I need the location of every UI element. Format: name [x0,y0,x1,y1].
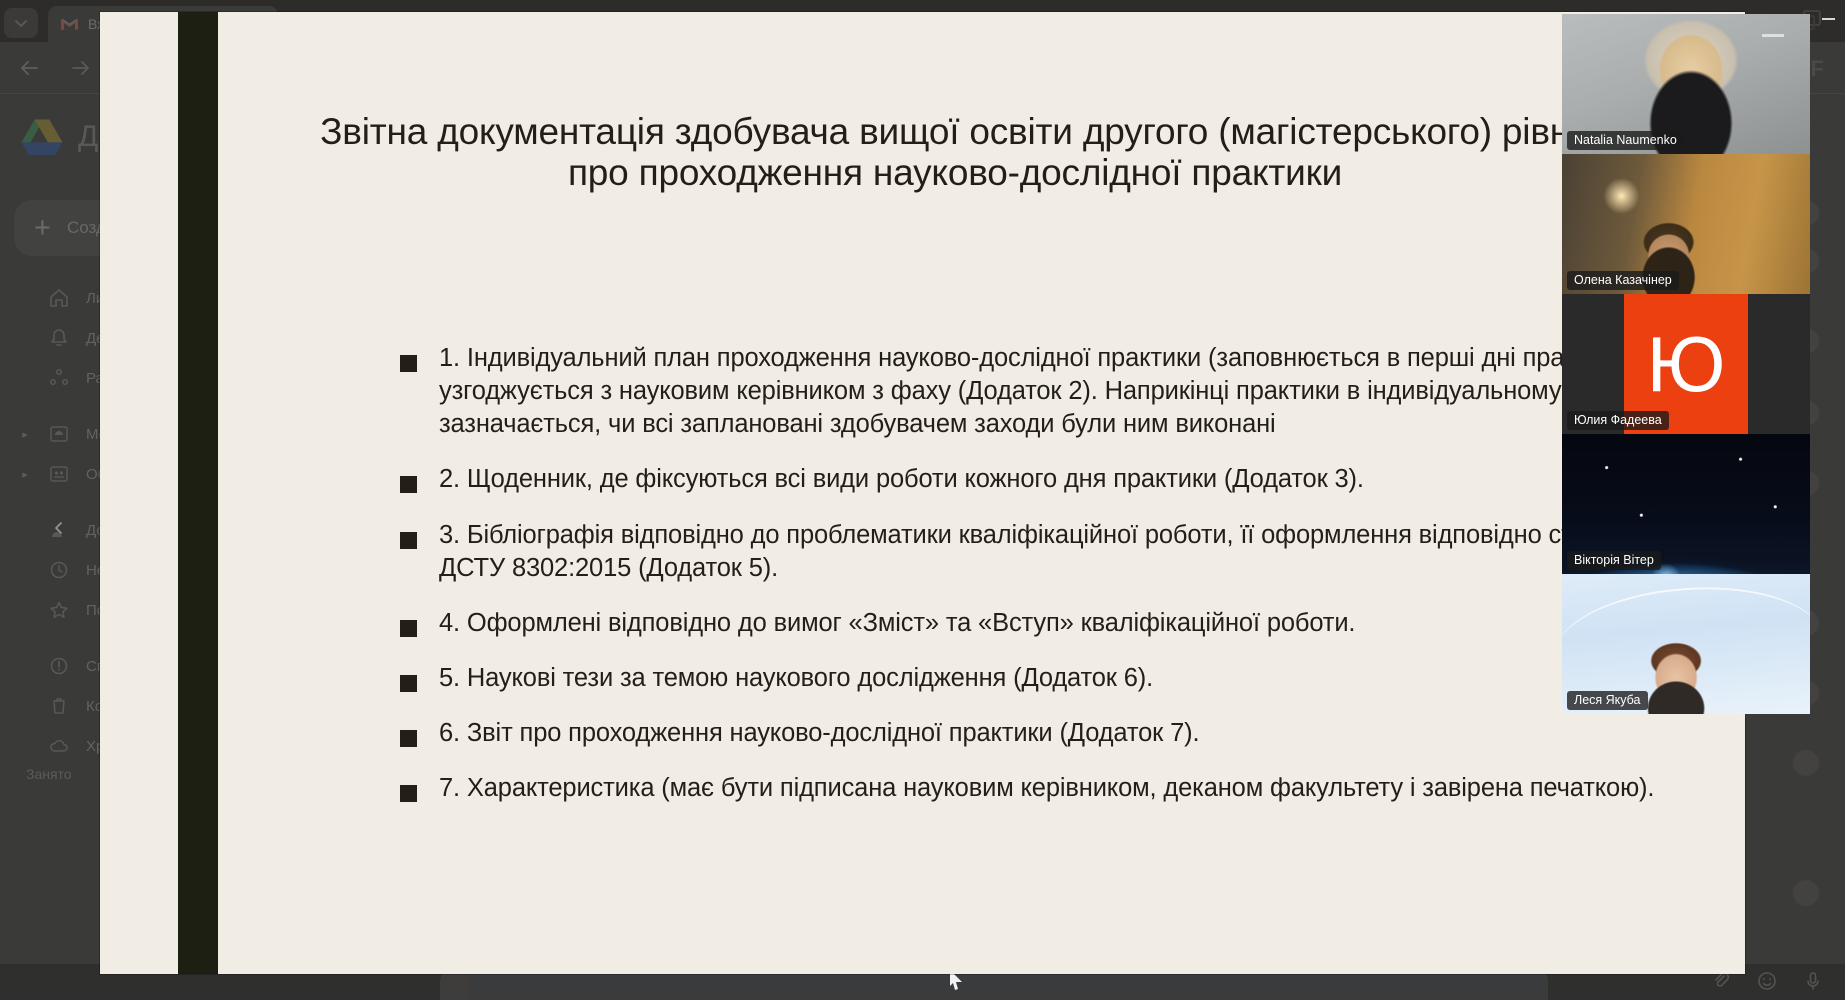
list-item-text: 6. Звіт про проходження науково-дослідно… [439,717,1199,750]
home-icon [46,285,72,311]
video-tile-participant[interactable]: Natalia Naumenko [1562,14,1810,154]
list-item-text: 5. Наукові тези за темою наукового дослі… [439,662,1153,695]
list-item: 6. Звіт про проходження науково-дослідно… [400,717,1720,750]
storage-usage-text: Занято [26,766,72,782]
google-drive-logo-icon [20,117,64,157]
participant-name: Леся Якуба [1567,691,1648,710]
list-item: 3. Бібліографія відповідно до проблемати… [400,519,1720,585]
slide-bullet-list: 1. Індивідуальний план проходження науко… [400,342,1720,827]
tab-search-chevron-icon[interactable] [4,8,38,38]
emoji-reaction-icon[interactable] [1793,880,1819,906]
slide-title: Звітна документація здобувача вищої осві… [290,112,1620,193]
list-item: 7. Характеристика (має бути підписана на… [400,772,1720,805]
participant-name: Олена Казачінер [1567,271,1679,290]
spam-icon [46,653,72,679]
back-arrow-icon[interactable] [10,49,48,87]
emoji-reaction-icon[interactable] [1793,750,1819,776]
shared-drive-icon [46,461,72,487]
square-bullet-icon [400,355,417,372]
square-bullet-icon [400,675,417,692]
list-item: 1. Індивідуальний план проходження науко… [400,342,1720,441]
list-item: 5. Наукові тези за темою наукового дослі… [400,662,1720,695]
participant-name: Юлия Фадеева [1567,411,1669,430]
minimize-icon [1822,18,1835,20]
square-bullet-icon [400,620,417,637]
list-item-text: 2. Щоденник, де фіксуються всі види робо… [439,463,1364,496]
chevron-right-icon[interactable]: ▸ [18,468,32,481]
presentation-slide[interactable]: Звітна документація здобувача вищої осві… [100,12,1745,974]
avatar-initial: Ю [1647,325,1726,403]
attach-icon[interactable] [1711,971,1731,996]
microphone-icon[interactable] [1803,971,1823,996]
trash-icon [46,693,72,719]
drive-icon [46,421,72,447]
chat-input-panel[interactable] [468,972,1548,1000]
square-bullet-icon [400,532,417,549]
star-icon [46,597,72,623]
cloud-icon [46,733,72,759]
workspace-icon [46,365,72,391]
list-item: 2. Щоденник, де фіксуються всі види робо… [400,463,1720,496]
video-tile-participant[interactable]: Леся Якуба [1562,574,1810,714]
square-bullet-icon [400,730,417,747]
video-tile-participant[interactable]: Олена Казачінер [1562,154,1810,294]
video-participant-strip: Natalia Naumenko Олена Казачінер Ю Юлия … [1562,14,1810,729]
list-item-text: 1. Індивідуальний план проходження науко… [439,342,1720,441]
minimize-window-button[interactable] [1815,8,1841,30]
forward-arrow-icon[interactable] [62,49,100,87]
list-item-text: 3. Бібліографія відповідно до проблемати… [439,519,1720,585]
slide-accent-bar [178,12,218,974]
emoji-picker-icon[interactable] [1757,971,1777,996]
list-item-text: 7. Характеристика (має бути підписана на… [439,772,1654,805]
list-item-text: 4. Оформлені відповідно до вимог «Зміст»… [439,607,1355,640]
participant-name: Natalia Naumenko [1567,131,1684,150]
gmail-icon [60,17,79,32]
square-bullet-icon [400,785,417,802]
shared-with-me-icon [46,517,72,543]
chevron-right-icon[interactable]: ▸ [18,428,32,441]
chat-action-icons [1711,971,1823,996]
background-swoosh-decoration [1562,579,1810,658]
screen-root: Вхідні ( Диск + Создать [0,0,1845,1000]
video-tile-participant[interactable]: Ю Юлия Фадеева [1562,294,1810,434]
list-item: 4. Оформлені відповідно до вимог «Зміст»… [400,607,1720,640]
muted-indicator-icon [1762,34,1784,37]
square-bullet-icon [400,476,417,493]
participant-name: Вікторія Вітер [1567,551,1661,570]
plus-icon: + [34,214,51,243]
video-tile-participant[interactable]: Вікторія Вітер [1562,434,1810,574]
clock-icon [46,557,72,583]
bell-icon [46,325,72,351]
